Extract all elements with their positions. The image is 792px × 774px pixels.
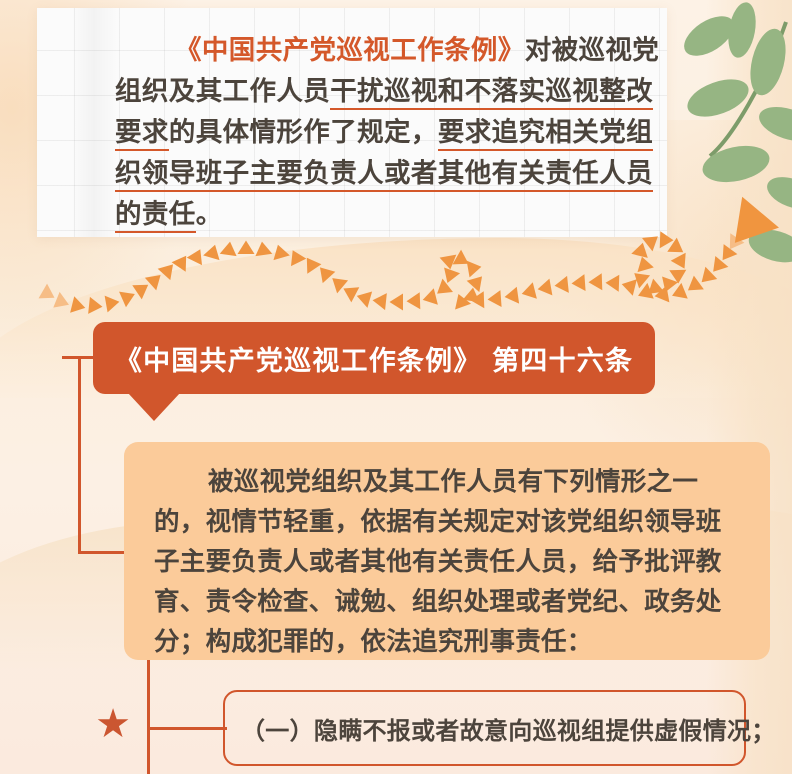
connector-list-vertical [147, 660, 150, 774]
statement-text: 《中国共产党巡视工作条例》对被巡视党组织及其工作人员干扰巡视和不落实巡视整改要求… [115, 30, 667, 235]
statement-paper-card: 《中国共产党巡视工作条例》对被巡视党组织及其工作人员干扰巡视和不落实巡视整改要求… [37, 8, 667, 237]
article-banner: 《中国共产党巡视工作条例》 第四十六条 [93, 322, 655, 394]
list-item: （一）隐瞒不报或者故意向巡视组提供虚假情况； [223, 690, 746, 766]
list-item-label: （一）隐瞒不报或者故意向巡视组提供虚假情况； [225, 711, 776, 746]
statement-plain-3: 。 [196, 199, 223, 230]
infographic-canvas: 《中国共产党巡视工作条例》对被巡视党组织及其工作人员干扰巡视和不落实巡视整改要求… [0, 0, 792, 774]
article-body-text: 被巡视党组织及其工作人员有下列情形之一的，视情节轻重，依据有关规定对该党组织领导… [154, 462, 744, 662]
statement-plain-2: 的具体情形作了规定， [169, 117, 438, 148]
article-body-box: 被巡视党组织及其工作人员有下列情形之一的，视情节轻重，依据有关规定对该党组织领导… [124, 442, 770, 660]
leaf-sprig-icon [680, 0, 792, 318]
connector-left-vertical [78, 356, 81, 554]
connector-left-bottom-horizontal [78, 551, 128, 554]
connector-list-horizontal [147, 727, 227, 730]
statement-regulation-title: 《中国共产党巡视工作条例》 [175, 35, 525, 66]
article-banner-title: 《中国共产党巡视工作条例》 第四十六条 [115, 339, 633, 378]
star-icon: ★ [93, 704, 133, 744]
article-banner-tail [128, 393, 180, 421]
